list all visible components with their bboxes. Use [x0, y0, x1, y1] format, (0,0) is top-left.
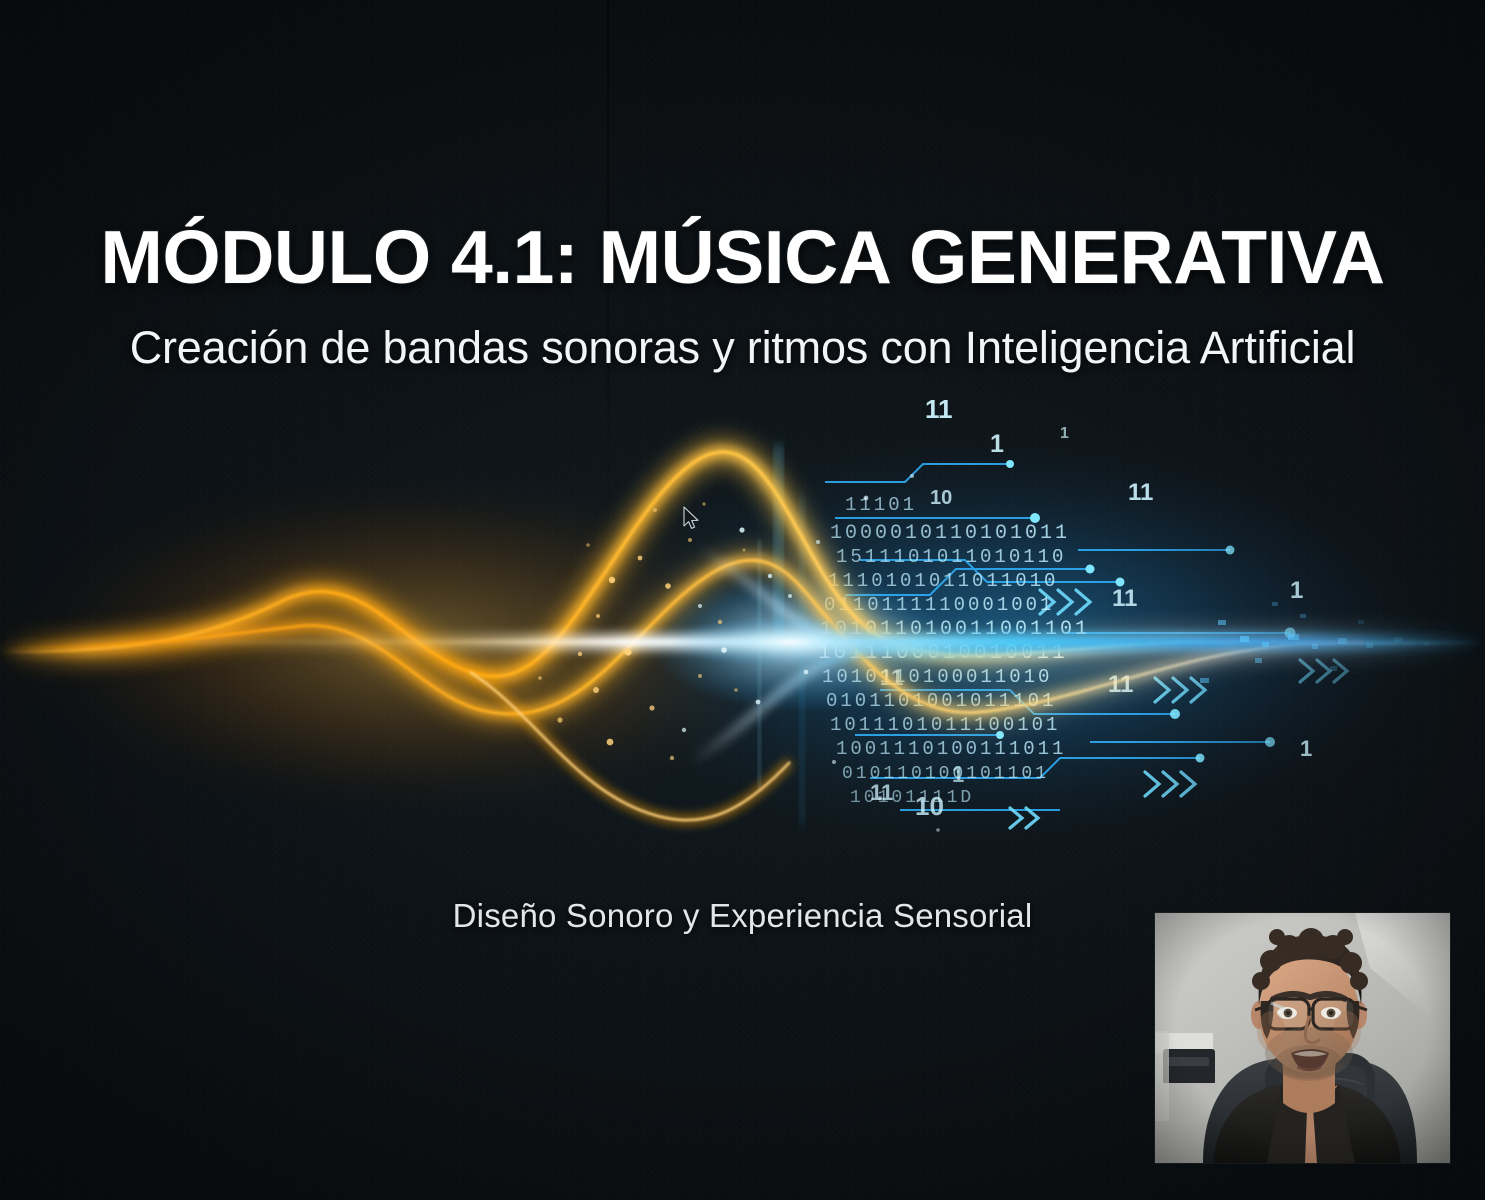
slide-title: MÓDULO 4.1: MÚSICA GENERATIVA	[0, 218, 1485, 296]
presentation-slide: 11101 1000010110101011 1511101011010110 …	[0, 0, 1485, 1200]
presenter-webcam-overlay[interactable]	[1155, 913, 1450, 1163]
slide-subtitle: Creación de bandas sonoras y ritmos con …	[0, 322, 1485, 374]
